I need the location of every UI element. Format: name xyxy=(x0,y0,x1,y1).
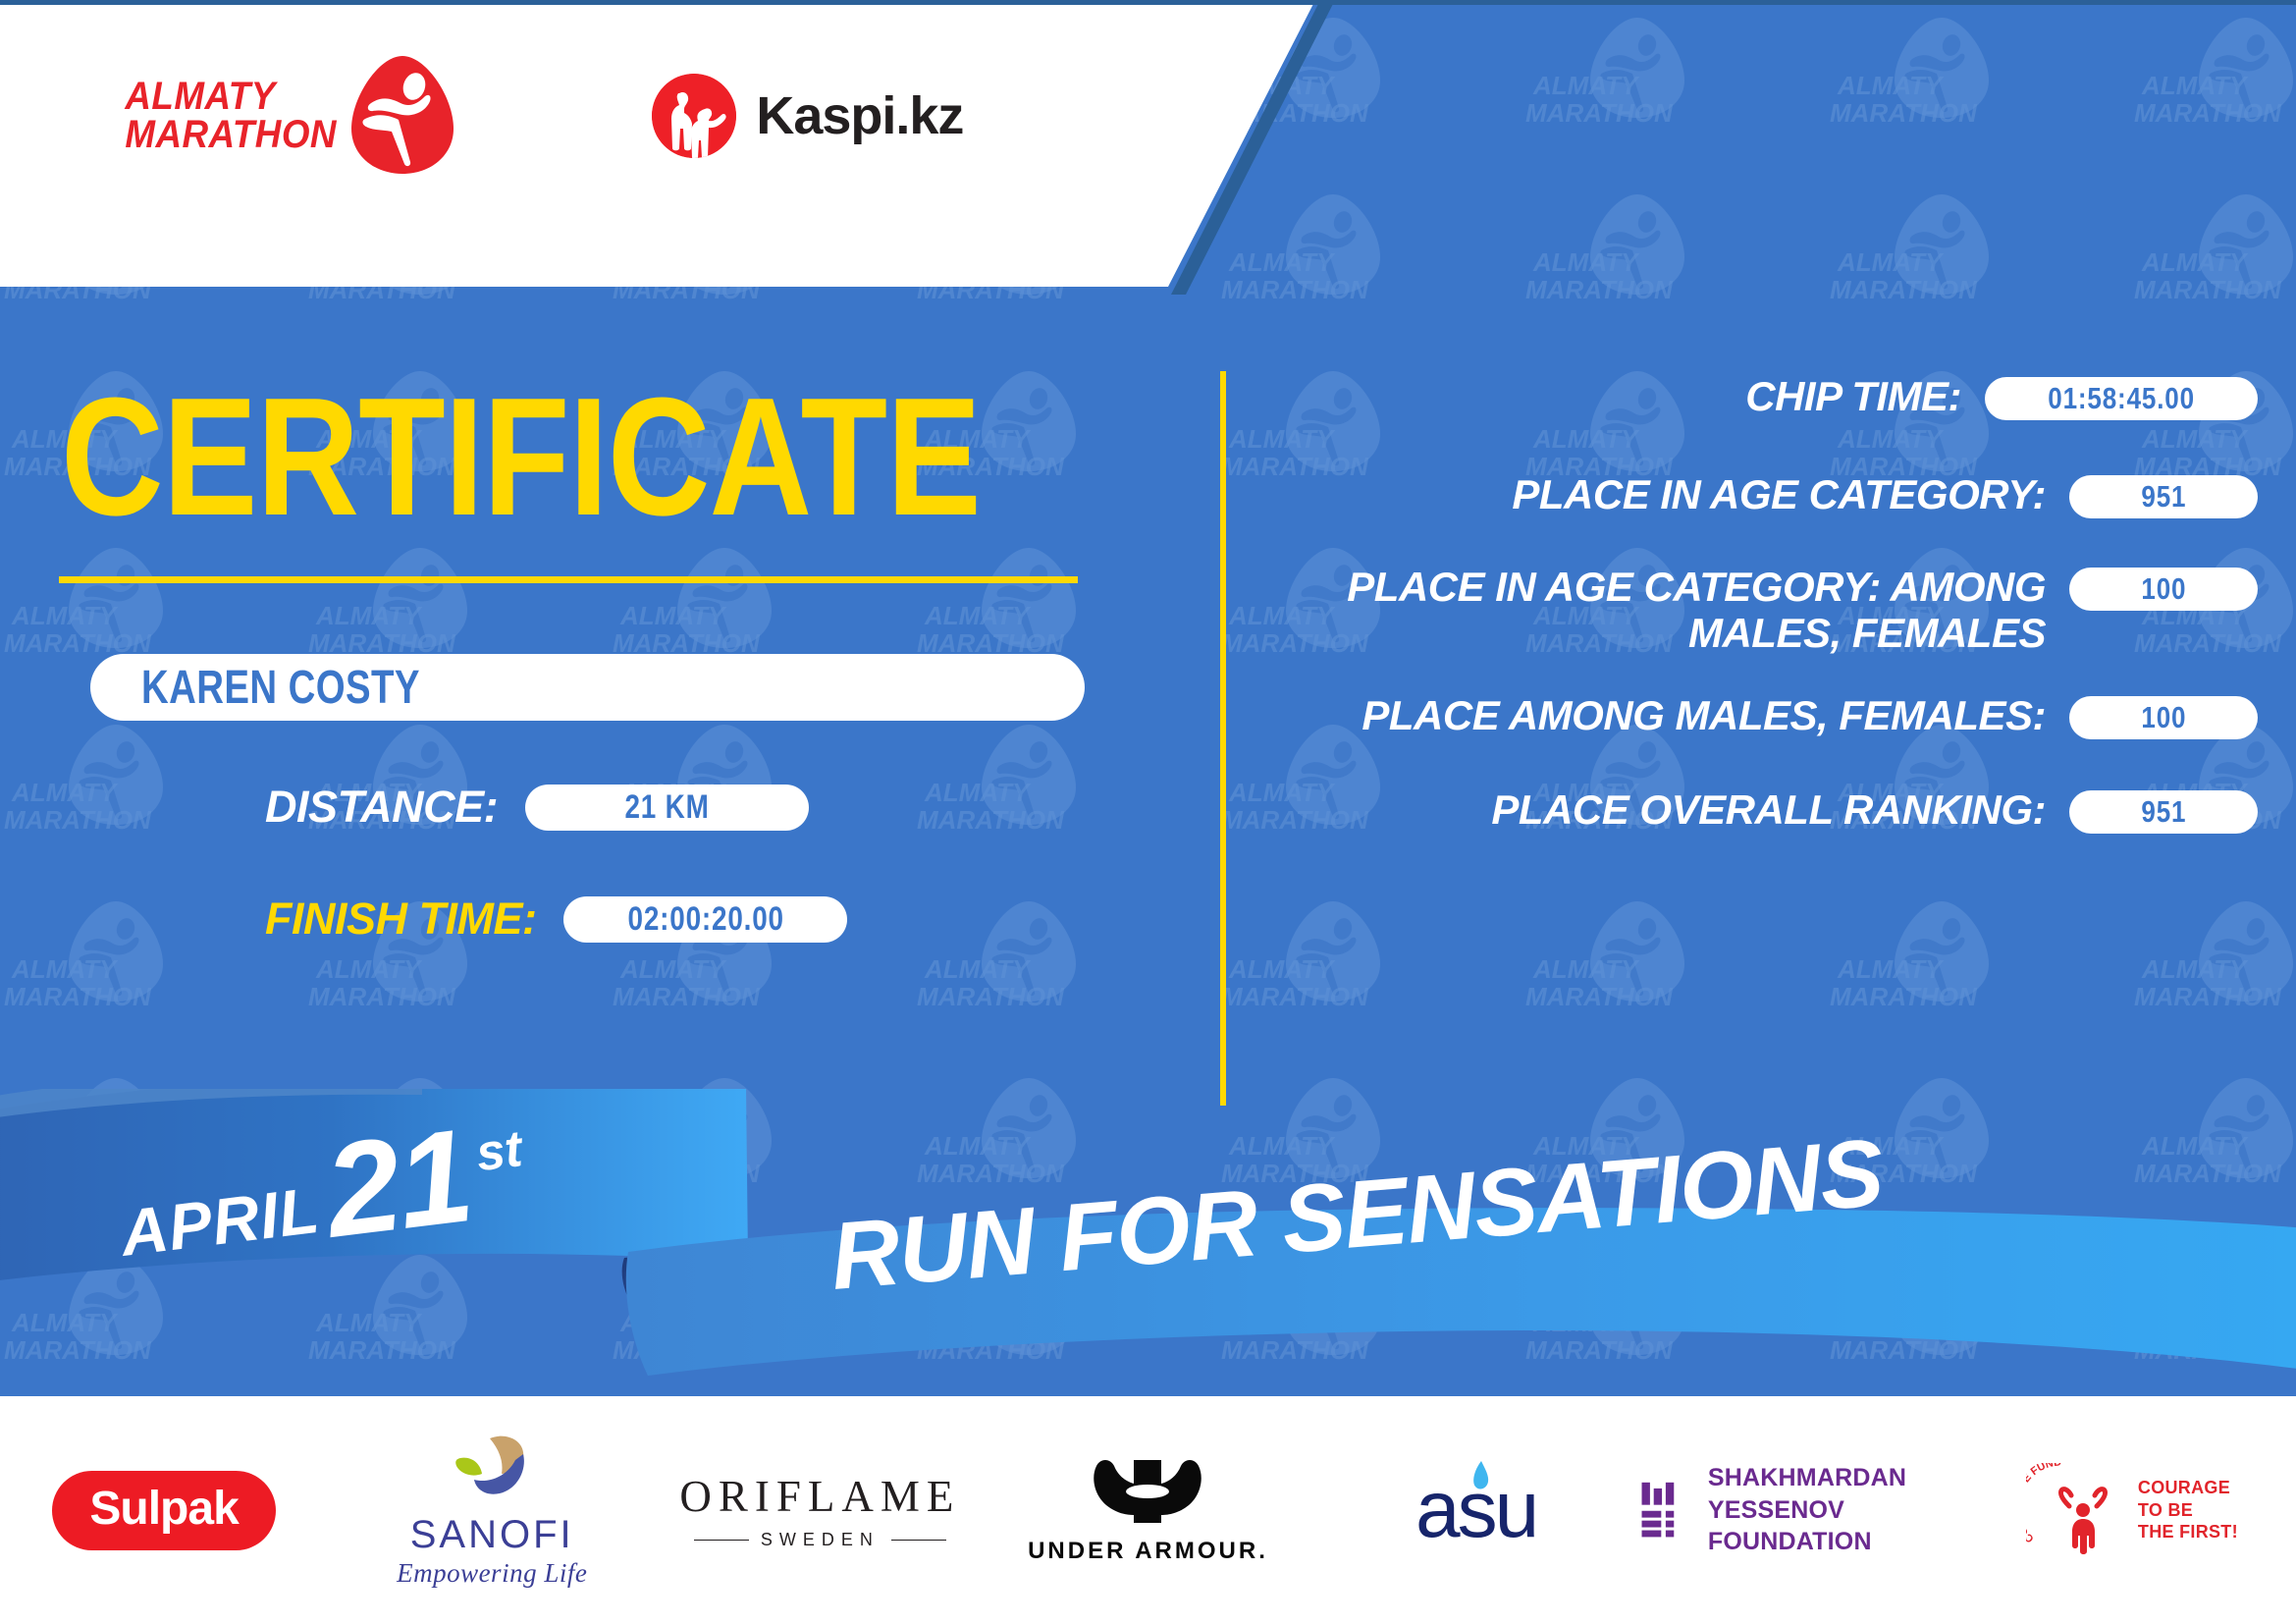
participant-name-value: KAREN COSTY xyxy=(141,661,420,715)
results-panel: CHIP TIME: 01:58:45.00 PLACE IN AGE CATE… xyxy=(1276,373,2258,881)
oriflame-rule-right xyxy=(891,1540,946,1541)
column-divider xyxy=(1220,371,1226,1106)
result-row-overall: PLACE OVERALL RANKING: 951 xyxy=(1276,786,2258,834)
oriflame-sub: SWEDEN xyxy=(679,1530,960,1550)
yessenov-line-1: SHAKHMARDAN YESSENOV xyxy=(1708,1462,1968,1526)
sanofi-wordmark: SANOFI xyxy=(397,1515,587,1554)
under-armour-logo: UNDER ARMOUR. xyxy=(1028,1456,1268,1565)
chip-time-pill: 01:58:45.00 xyxy=(1985,377,2258,420)
header-logos: ALMATY MARATHON Kaspi.kz xyxy=(116,54,963,177)
top-border-line xyxy=(0,0,2296,5)
courage-line-2: TO BE xyxy=(2138,1499,2238,1522)
almaty-marathon-logo: ALMATY MARATHON xyxy=(116,54,455,177)
yessenov-line-2: FOUNDATION xyxy=(1708,1526,1968,1558)
finish-time-label: FINISH TIME: xyxy=(265,893,536,945)
distance-value: 21 KM xyxy=(625,788,710,827)
sponsor-courage-fund: CORPORATE FUND COURAGE TO BE THE FIRST! xyxy=(1968,1463,2296,1557)
distance-label: DISTANCE: xyxy=(265,782,498,833)
asu-logo: asu xyxy=(1415,1464,1536,1556)
distance-pill: 21 KM xyxy=(525,785,809,831)
almaty-marathon-wordmark: ALMATY MARATHON xyxy=(125,78,337,153)
title-divider xyxy=(59,576,1078,583)
sponsor-strip: Sulpak SANOFI Empowering Life ORIFLAME S… xyxy=(0,1396,2296,1624)
result-row-age-category-gender: PLACE IN AGE CATEGORY: AMONG MALES, FEMA… xyxy=(1276,564,2258,657)
finish-time-row: FINISH TIME: 02:00:20.00 xyxy=(0,893,1158,945)
oriflame-wordmark: ORIFLAME xyxy=(679,1471,960,1522)
overall-ranking-pill: 951 xyxy=(2069,790,2258,834)
brand-line-1: ALMATY xyxy=(125,78,337,115)
yessenov-foundation-logo: SHAKHMARDAN YESSENOV FOUNDATION xyxy=(1640,1462,1968,1558)
courage-line-3: THE FIRST! xyxy=(2138,1521,2238,1543)
sponsor-asu: asu xyxy=(1312,1464,1640,1556)
courage-line-1: COURAGE xyxy=(2138,1477,2238,1499)
ribbon-banner: APRIL 21 st RUN FOR SENSATIONS xyxy=(0,1089,2296,1413)
kaspi-wordmark: Kaspi.kz xyxy=(756,85,963,146)
age-category-gender-pill: 100 xyxy=(2069,568,2258,611)
sanofi-logo: SANOFI Empowering Life xyxy=(397,1435,587,1587)
finish-time-pill: 02:00:20.00 xyxy=(563,896,847,943)
overall-ranking-value: 951 xyxy=(2141,794,2186,830)
event-day: 21 xyxy=(320,1122,475,1245)
among-gender-pill: 100 xyxy=(2069,696,2258,739)
finish-time-value: 02:00:20.00 xyxy=(627,900,783,939)
participant-name-field: KAREN COSTY xyxy=(90,654,1085,721)
page-title: CERTIFICATE xyxy=(0,373,1158,541)
under-armour-wordmark: UNDER ARMOUR. xyxy=(1028,1538,1268,1565)
age-category-label: PLACE IN AGE CATEGORY: xyxy=(1276,471,2069,517)
result-row-chip-time: CHIP TIME: 01:58:45.00 xyxy=(1276,373,2258,420)
asu-droplet-icon xyxy=(1469,1460,1491,1493)
almaty-marathon-runner-icon xyxy=(349,54,455,177)
overall-ranking-label: PLACE OVERALL RANKING: xyxy=(1276,786,2069,833)
kaspi-people-circle-icon xyxy=(652,74,736,158)
age-category-value: 951 xyxy=(2141,479,2186,514)
certificate-canvas: ALMATY MARATHON Kaspi.kz CERTIFICA xyxy=(0,0,2296,1624)
among-gender-label: PLACE AMONG MALES, FEMALES: xyxy=(1276,692,2069,738)
brand-line-2: MARATHON xyxy=(125,116,337,153)
distance-row: DISTANCE: 21 KM xyxy=(0,782,1158,833)
kaspi-logo: Kaspi.kz xyxy=(652,74,963,158)
chip-time-value: 01:58:45.00 xyxy=(2048,381,2195,416)
svg-text:CORPORATE FUND: CORPORATE FUND xyxy=(2026,1463,2062,1544)
sanofi-swirl-icon xyxy=(447,1435,537,1505)
event-day-ordinal: st xyxy=(473,1119,525,1183)
oriflame-tagline: SWEDEN xyxy=(761,1530,880,1550)
chip-time-label: CHIP TIME: xyxy=(1276,373,1985,419)
result-row-among-gender: PLACE AMONG MALES, FEMALES: 100 xyxy=(1276,692,2258,739)
sulpak-logo: Sulpak xyxy=(52,1471,275,1550)
sponsor-sulpak: Sulpak xyxy=(0,1471,328,1550)
sponsor-sanofi: SANOFI Empowering Life xyxy=(328,1435,656,1587)
courage-fund-wordmark: COURAGE TO BE THE FIRST! xyxy=(2138,1477,2238,1543)
under-armour-icon xyxy=(1089,1456,1206,1527)
sponsor-under-armour: UNDER ARMOUR. xyxy=(984,1456,1311,1565)
among-gender-value: 100 xyxy=(2141,700,2186,735)
yessenov-wordmark: SHAKHMARDAN YESSENOV FOUNDATION xyxy=(1708,1462,1968,1558)
yessenov-bars-icon xyxy=(1640,1472,1686,1548)
result-row-age-category: PLACE IN AGE CATEGORY: 951 xyxy=(1276,471,2258,518)
age-category-gender-value: 100 xyxy=(2141,571,2186,607)
oriflame-rule-left xyxy=(694,1540,749,1541)
sanofi-tagline: Empowering Life xyxy=(397,1560,587,1587)
courage-fund-logo: CORPORATE FUND COURAGE TO BE THE FIRST! xyxy=(2026,1463,2238,1557)
left-panel: CERTIFICATE KAREN COSTY DISTANCE: 21 KM … xyxy=(0,373,1158,945)
age-category-gender-label: PLACE IN AGE CATEGORY: AMONG MALES, FEMA… xyxy=(1276,564,2069,657)
age-category-pill: 951 xyxy=(2069,475,2258,518)
sponsor-oriflame: ORIFLAME SWEDEN xyxy=(656,1471,984,1550)
courage-fund-icon: CORPORATE FUND xyxy=(2026,1463,2130,1557)
sponsor-yessenov: SHAKHMARDAN YESSENOV FOUNDATION xyxy=(1640,1462,1968,1558)
oriflame-logo: ORIFLAME SWEDEN xyxy=(679,1471,960,1550)
